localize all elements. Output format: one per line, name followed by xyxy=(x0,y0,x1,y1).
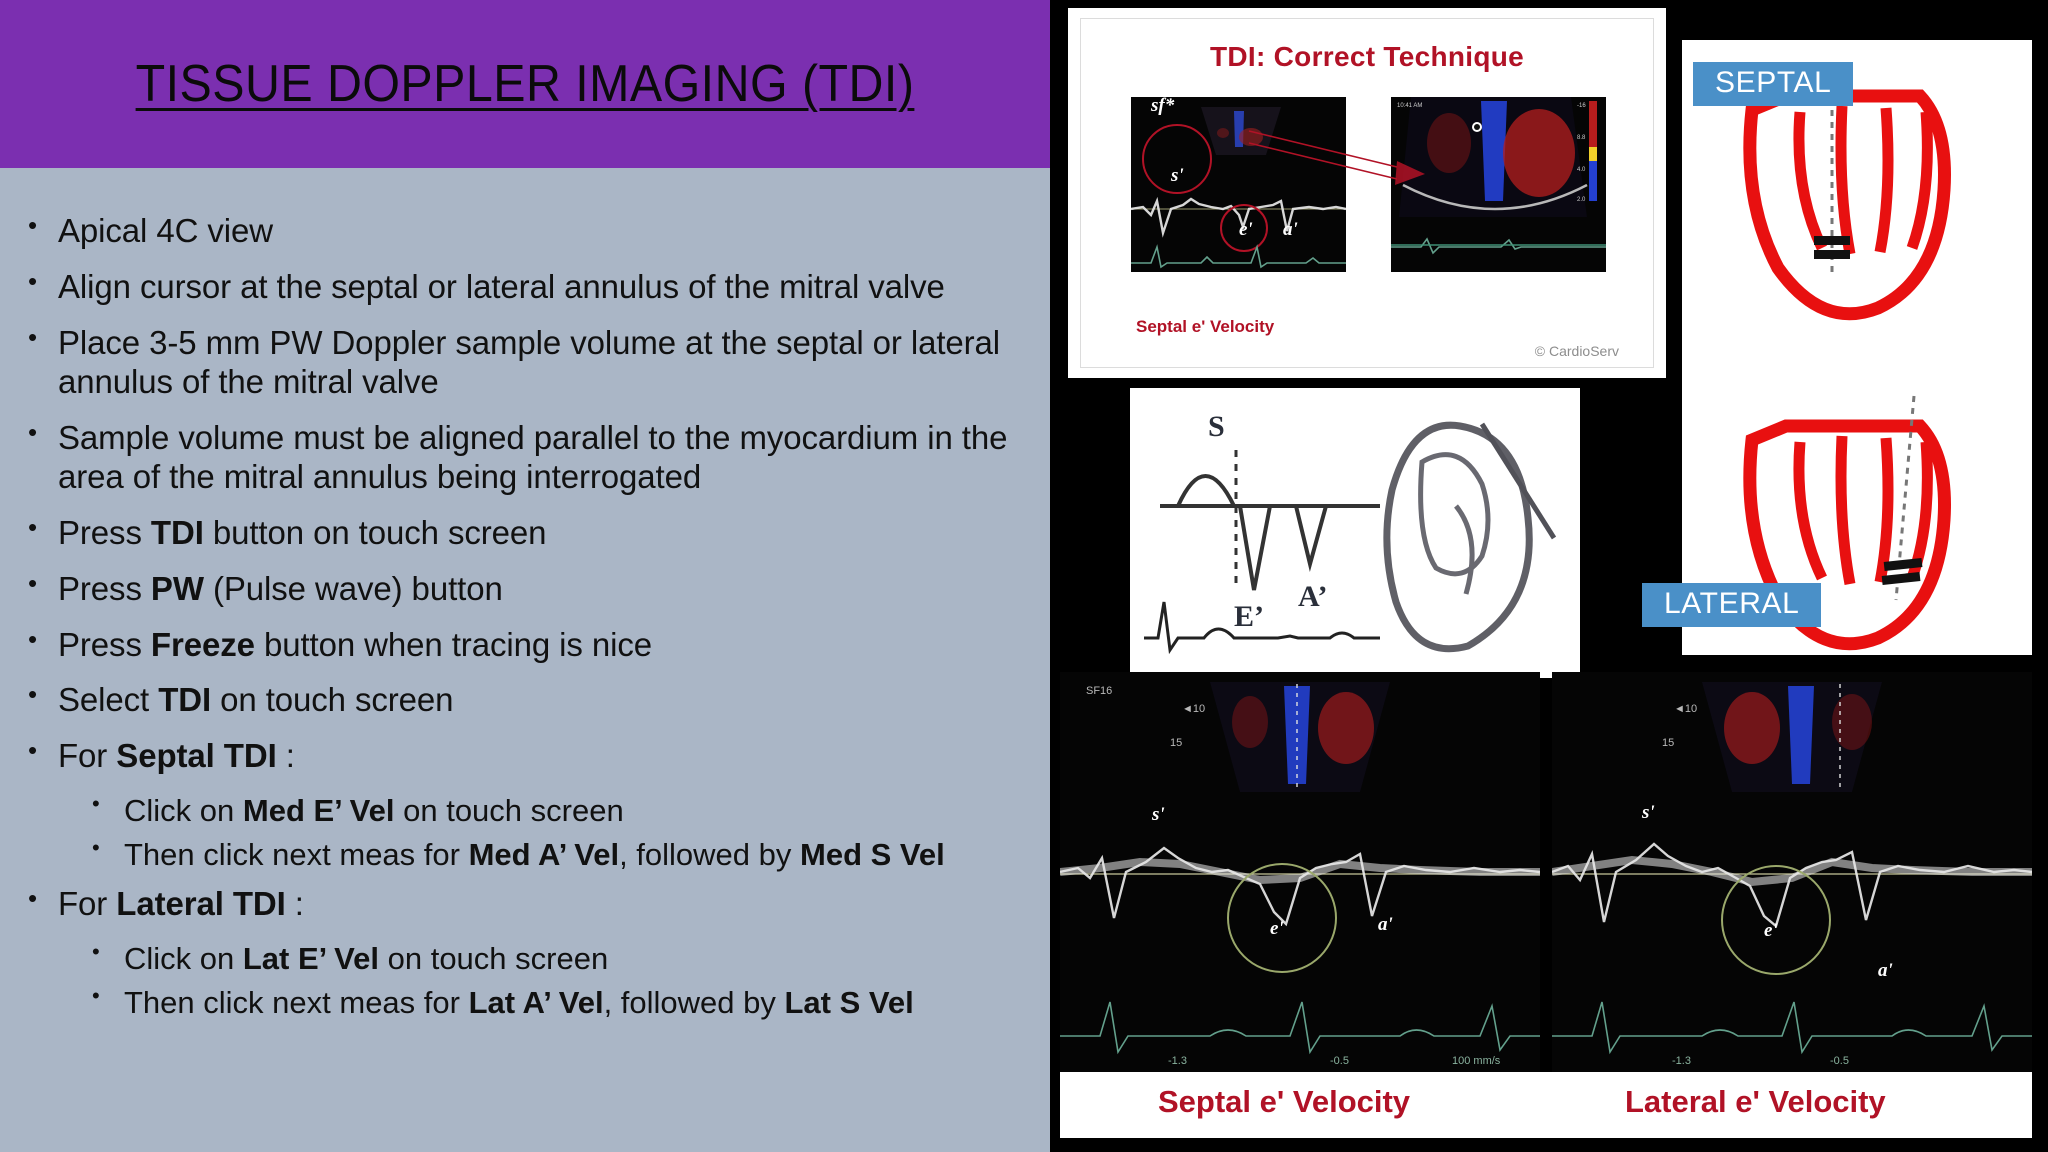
list-item: Press Freeze button when tracing is nice xyxy=(14,626,1044,665)
bullet-list: Apical 4C view Align cursor at the septa… xyxy=(14,212,1044,1033)
svg-text:15: 15 xyxy=(1662,737,1674,749)
page-title-text: TISSUE DOPPLER IMAGING (TDI) xyxy=(136,55,915,113)
bullet-text-bold: PW xyxy=(151,570,204,607)
bottom-caption-bar: Septal e' Velocity Lateral e' Velocity xyxy=(1060,1072,2032,1138)
figure-heart-diagrams-card xyxy=(1682,40,2032,655)
list-item: Align cursor at the septal or lateral an… xyxy=(14,268,1044,307)
svg-text:a': a' xyxy=(1878,960,1893,981)
sub-list-septal: Click on Med E’ Vel on touch screen Then… xyxy=(14,793,1044,873)
bullet-text-pre: Select xyxy=(58,681,158,718)
bullet-text-pre: For xyxy=(58,885,116,922)
svg-text:15: 15 xyxy=(1170,737,1182,749)
bullet-text-bold: TDI xyxy=(158,681,211,718)
bullet-text-bold: TDI xyxy=(151,514,204,551)
color-doppler-svg: -16 8.8 4.0 2.0 10:41 AM xyxy=(1391,97,1606,272)
bullet-text-post: : xyxy=(277,737,295,774)
bullet-text-bold: Lat A’ Vel xyxy=(469,985,604,1020)
figure-schematic-card: S E’ A’ xyxy=(1130,388,1580,678)
bullet-text-post: (Pulse wave) button xyxy=(204,570,503,607)
bullet-text-bold: Septal TDI xyxy=(116,737,276,774)
bullet-text-pre: Press xyxy=(58,514,151,551)
bullet-text-pre: Press xyxy=(58,570,151,607)
bullet-text-bold: Freeze xyxy=(151,626,255,663)
figure-technique-caption: Septal e' Velocity xyxy=(1136,317,1274,337)
bullet-text-bold: Med A’ Vel xyxy=(469,837,619,872)
bullet-text: Place 3-5 mm PW Doppler sample volume at… xyxy=(58,324,1000,400)
caption-lateral-velocity: Lateral e' Velocity xyxy=(1625,1084,1886,1120)
svg-text:2.0: 2.0 xyxy=(1577,197,1586,203)
bullet-text-post: on touch screen xyxy=(211,681,453,718)
page-title: TISSUE DOPPLER IMAGING (TDI) xyxy=(37,54,1014,114)
figure-technique-title: TDI: Correct Technique xyxy=(1081,41,1653,73)
spectral-doppler-svg: sf* s' e' a' xyxy=(1131,97,1346,272)
ultrasound-septal-strip: SF16 ◄10 15 s' e' a' -1.3 -0.5 100 mm/s xyxy=(1060,672,1540,1072)
sub-list-lateral: Click on Lat E’ Vel on touch screen Then… xyxy=(14,941,1044,1021)
septal-spectral-svg: SF16 ◄10 15 s' e' a' -1.3 -0.5 100 mm/s xyxy=(1060,672,1540,1072)
list-item: Sample volume must be aligned parallel t… xyxy=(14,419,1044,497)
bullet-text-post: on touch screen xyxy=(379,941,608,976)
svg-text:E’: E’ xyxy=(1234,600,1264,633)
svg-text:s': s' xyxy=(1170,165,1184,186)
svg-text:-1.3: -1.3 xyxy=(1672,1055,1691,1067)
bullet-text-post: : xyxy=(286,885,304,922)
list-item-lateral-tdi: For Lateral TDI : xyxy=(14,885,1044,924)
list-item: Click on Med E’ Vel on touch screen xyxy=(14,793,1044,829)
svg-text:4.0: 4.0 xyxy=(1577,167,1586,173)
list-item: Press TDI button on touch screen xyxy=(14,514,1044,553)
svg-text:e': e' xyxy=(1239,219,1253,240)
ultrasound-thumb-color: -16 8.8 4.0 2.0 10:41 AM xyxy=(1391,97,1606,272)
bullet-text-bold2: Lat S Vel xyxy=(785,985,914,1020)
right-figure-pane: TDI: Correct Technique sf* xyxy=(1050,0,2048,1152)
bullet-text-post: on touch screen xyxy=(395,793,624,828)
bullet-text: Align cursor at the septal or lateral an… xyxy=(58,268,945,305)
tdi-waveform-schematic-svg: S E’ A’ xyxy=(1130,388,1580,678)
svg-text:◄10: ◄10 xyxy=(1674,703,1697,715)
svg-text:sf*: sf* xyxy=(1150,97,1175,116)
bullet-text-pre: Press xyxy=(58,626,151,663)
bullet-text: Apical 4C view xyxy=(58,212,273,249)
list-item: Then click next meas for Med A’ Vel, fol… xyxy=(14,837,1044,873)
list-item: Then click next meas for Lat A’ Vel, fol… xyxy=(14,985,1044,1021)
svg-text:-16: -16 xyxy=(1577,103,1586,109)
bullet-text-bold: Med E’ Vel xyxy=(243,793,395,828)
figure-technique-inner: TDI: Correct Technique sf* xyxy=(1080,18,1654,368)
svg-text:10:41 AM: 10:41 AM xyxy=(1397,103,1422,109)
bullet-text-bold: Lat E’ Vel xyxy=(243,941,379,976)
left-content-pane: TISSUE DOPPLER IMAGING (TDI) Apical 4C v… xyxy=(0,0,1050,1152)
watermark-cardioserv: © CardioServ xyxy=(1535,343,1619,359)
bullet-text-post: , followed by xyxy=(604,985,785,1020)
list-item: Click on Lat E’ Vel on touch screen xyxy=(14,941,1044,977)
bullet-text-post: , followed by xyxy=(619,837,800,872)
lateral-spectral-svg: ◄10 15 s' e' a' -1.3 -0.5 xyxy=(1552,672,2032,1072)
svg-text:e': e' xyxy=(1764,920,1778,941)
caption-septal-velocity: Septal e' Velocity xyxy=(1158,1084,1410,1120)
bullet-text-pre: For xyxy=(58,737,116,774)
figure-technique-card: TDI: Correct Technique sf* xyxy=(1068,8,1666,378)
svg-text:SF16: SF16 xyxy=(1086,685,1112,697)
list-item: Apical 4C view xyxy=(14,212,1044,251)
svg-text:-1.3: -1.3 xyxy=(1168,1055,1187,1067)
svg-text:-0.5: -0.5 xyxy=(1830,1055,1849,1067)
svg-text:a': a' xyxy=(1378,914,1393,935)
list-item: Select TDI on touch screen xyxy=(14,681,1044,720)
heart-diagrams-svg xyxy=(1682,40,2032,655)
ultrasound-lateral-strip: ◄10 15 s' e' a' -1.3 -0.5 xyxy=(1552,672,2032,1072)
svg-text:s': s' xyxy=(1641,802,1655,823)
bullet-text-pre: Click on xyxy=(124,941,243,976)
label-lateral: LATERAL xyxy=(1642,583,1821,627)
label-septal: SEPTAL xyxy=(1693,62,1853,106)
svg-text:-0.5: -0.5 xyxy=(1330,1055,1349,1067)
svg-text:◄10: ◄10 xyxy=(1182,703,1205,715)
bullet-text-bold2: Med S Vel xyxy=(800,837,945,872)
list-item: Press PW (Pulse wave) button xyxy=(14,570,1044,609)
svg-text:S: S xyxy=(1208,410,1225,443)
svg-text:s': s' xyxy=(1151,804,1165,825)
bullet-text-pre: Then click next meas for xyxy=(124,837,469,872)
svg-text:A’: A’ xyxy=(1298,580,1327,613)
svg-text:8.8: 8.8 xyxy=(1577,135,1586,141)
bullet-text-pre: Click on xyxy=(124,793,243,828)
svg-text:a': a' xyxy=(1283,219,1298,240)
ultrasound-thumb-spectral: sf* s' e' a' xyxy=(1131,97,1346,272)
bullet-text-post: button when tracing is nice xyxy=(255,626,652,663)
list-item: Place 3-5 mm PW Doppler sample volume at… xyxy=(14,324,1044,402)
bullet-text-pre: Then click next meas for xyxy=(124,985,469,1020)
slide-root: TISSUE DOPPLER IMAGING (TDI) Apical 4C v… xyxy=(0,0,2048,1152)
bullet-text-post: button on touch screen xyxy=(204,514,547,551)
list-item-septal-tdi: For Septal TDI : xyxy=(14,737,1044,776)
bullet-text-bold: Lateral TDI xyxy=(116,885,285,922)
bullet-text: Sample volume must be aligned parallel t… xyxy=(58,419,1007,495)
svg-text:e': e' xyxy=(1270,918,1284,939)
svg-text:100 mm/s: 100 mm/s xyxy=(1452,1055,1501,1067)
